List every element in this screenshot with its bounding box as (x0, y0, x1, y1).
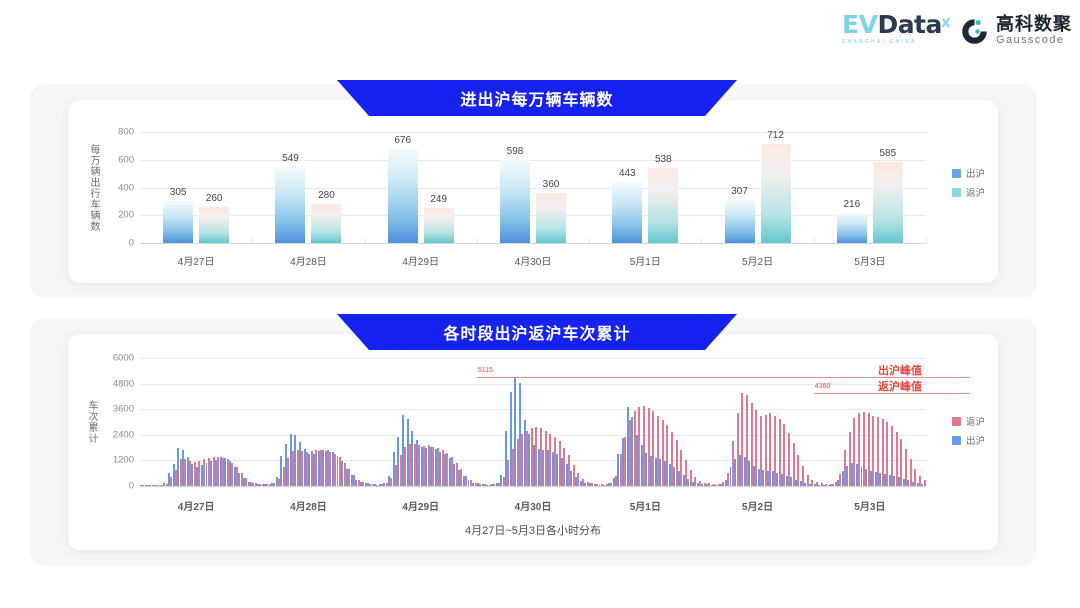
x-axis-tick-5月2日: 5月2日 (714, 253, 802, 268)
evdata-wordmark: EVData x (842, 12, 946, 38)
logo-group: EVData x SHANGHAI CHINA 高科数聚 Gausscode (842, 12, 1072, 50)
bar-返沪-4月28日 (311, 204, 341, 243)
chart-daily-vehicles: 0200400600800每万辆出行车辆数3052604月27日5492804月… (68, 100, 998, 283)
evdata-data-text: Data (877, 10, 941, 39)
x-axis-separator (926, 238, 927, 244)
y-axis-label: 车次累计 (84, 362, 99, 482)
legend-label-返沪: 返沪 (966, 185, 985, 199)
x-axis-line (140, 486, 926, 487)
gridline (140, 160, 926, 161)
y-axis-tick: 3600 (104, 404, 134, 415)
gausscode-logo: 高科数聚 Gausscode (960, 15, 1072, 47)
y-axis-tick: 600 (106, 154, 134, 165)
gridline (140, 384, 926, 385)
x-axis-tick-4月28日: 4月28日 (264, 498, 352, 513)
x-axis-line (140, 243, 926, 244)
y-axis-tick: 800 (106, 127, 134, 138)
gridline (140, 409, 926, 410)
bar-value-label: 216 (828, 199, 876, 210)
y-axis-tick: 0 (106, 238, 134, 249)
chart-legend: 返沪出沪 (952, 414, 985, 447)
legend-swatch-出沪 (952, 436, 961, 445)
bar-value-label: 249 (415, 194, 463, 205)
gridline (140, 358, 926, 359)
y-axis-tick: 0 (104, 481, 134, 492)
bar-value-label: 598 (491, 146, 539, 157)
bar-返沪-5月1日 (648, 168, 678, 243)
gausscode-cn-name: 高科数聚 (996, 15, 1072, 34)
bar-出沪-5月3日 (837, 213, 867, 243)
x-axis-tick-5月2日: 5月2日 (714, 498, 802, 513)
gausscode-text: 高科数聚 Gausscode (996, 15, 1072, 47)
evdata-x-icon: x (941, 9, 950, 35)
annotation-value-返沪峰值: 4360 (815, 383, 831, 390)
y-axis-tick: 200 (106, 210, 134, 221)
gridline (140, 132, 926, 133)
legend-item-出沪[interactable]: 出沪 (952, 433, 985, 447)
bar-出沪-5月1日 (612, 182, 642, 243)
x-axis-tick-5月3日: 5月3日 (826, 253, 914, 268)
bar-value-label: 360 (527, 179, 575, 190)
y-axis-label: 每万辆出行车辆数 (86, 136, 101, 239)
page-header: EVData x SHANGHAI CHINA 高科数聚 Gausscode (0, 0, 1080, 64)
x-axis-tick-5月1日: 5月1日 (601, 253, 689, 268)
evdata-subtitle: SHANGHAI CHINA (842, 39, 946, 45)
bar-value-label: 538 (639, 154, 687, 165)
y-axis-tick: 4800 (104, 378, 134, 389)
chart-hourly-cumulative: 012002400360048006000车次累计4月27日4月28日4月29日… (68, 334, 998, 550)
chart-legend: 出沪返沪 (952, 166, 985, 199)
annotation-value-出沪峰值: 5115 (478, 367, 493, 374)
x-axis-tick-4月27日: 4月27日 (152, 253, 240, 268)
bar-返沪-5月2日 (761, 144, 791, 243)
bar-value-label: 549 (266, 153, 314, 164)
gausscode-mark-icon (960, 17, 989, 46)
x-axis-tick-5月1日: 5月1日 (601, 498, 689, 513)
legend-swatch-出沪 (952, 169, 961, 178)
annotation-label-出沪峰值: 出沪峰值 (878, 362, 922, 378)
annotation-label-返沪峰值: 返沪峰值 (878, 378, 922, 394)
x-axis-tick-4月30日: 4月30日 (489, 498, 577, 513)
bar-value-label: 443 (603, 168, 651, 179)
legend-swatch-返沪 (952, 417, 961, 426)
y-axis-tick: 6000 (104, 353, 134, 364)
x-axis-tick-4月27日: 4月27日 (152, 498, 240, 513)
bar-返沪-5月3日 (873, 162, 903, 243)
bar-value-label: 676 (379, 135, 427, 146)
legend-item-返沪[interactable]: 返沪 (952, 414, 985, 428)
legend-label-返沪: 返沪 (966, 414, 985, 428)
legend-item-返沪[interactable]: 返沪 (952, 185, 985, 199)
x-axis-tick-4月29日: 4月29日 (377, 498, 465, 513)
gausscode-en-name: Gausscode (996, 34, 1072, 47)
bar-返沪-4月29日 (424, 208, 454, 243)
banner-daily-vehicles: 进出沪每万辆车辆数 (337, 80, 737, 116)
bar-出沪-4月29日 (388, 149, 418, 243)
bar-出沪-5月2日 (725, 200, 755, 243)
bar-value-label: 260 (190, 193, 238, 204)
x-axis-tick-4月30日: 4月30日 (489, 253, 577, 268)
bar-value-label: 585 (864, 148, 912, 159)
bar-value-label: 307 (716, 186, 764, 197)
bar-value-label: 712 (752, 130, 800, 141)
y-axis-tick: 400 (106, 182, 134, 193)
evdata-ev-text: EV (842, 10, 877, 39)
x-axis-tick-4月29日: 4月29日 (377, 253, 465, 268)
legend-label-出沪: 出沪 (966, 166, 985, 180)
bar-返沪-4月30日 (536, 193, 566, 243)
x-axis-tick-4月28日: 4月28日 (264, 253, 352, 268)
bar-出沪-4月30日 (500, 160, 530, 243)
legend-label-出沪: 出沪 (966, 433, 985, 447)
bar-出沪-4月27日 (163, 201, 193, 243)
bar-value-label: 280 (302, 190, 350, 201)
banner-hourly-cumulative: 各时段出沪返沪车次累计 (337, 314, 737, 350)
bar-出沪-4月28日 (275, 167, 305, 243)
y-axis-tick: 2400 (104, 429, 134, 440)
y-axis-tick: 1200 (104, 455, 134, 466)
x-axis-tick-5月3日: 5月3日 (826, 498, 914, 513)
gridline (140, 215, 926, 216)
x-axis-caption: 4月27日~5月3日各小时分布 (68, 522, 998, 538)
bar-返沪-4月27日 (199, 207, 229, 243)
evdata-logo: EVData x SHANGHAI CHINA (842, 12, 946, 50)
legend-item-出沪[interactable]: 出沪 (952, 166, 985, 180)
gridline (140, 435, 926, 436)
legend-swatch-返沪 (952, 188, 961, 197)
